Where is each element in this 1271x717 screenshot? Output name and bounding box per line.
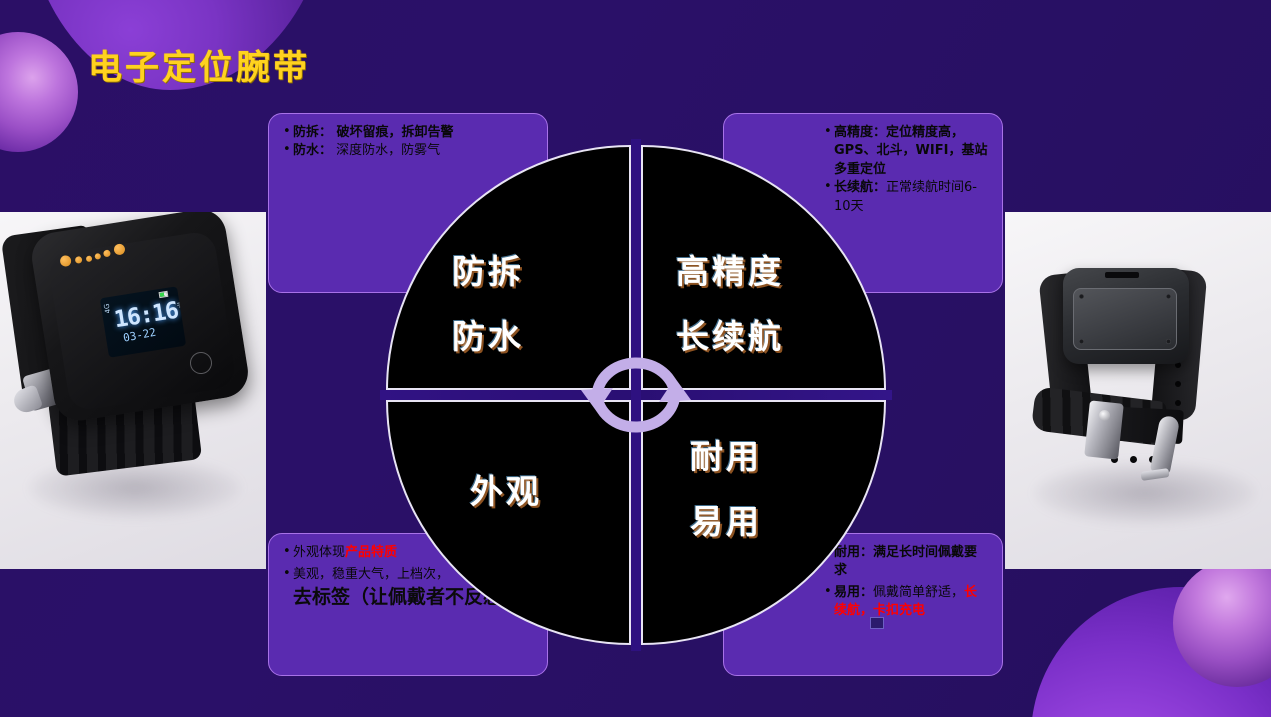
wheel-label-waterproof: 防水 [452, 310, 524, 358]
callout-key: 防水： [293, 143, 332, 158]
callout-value: 外观体现 [293, 545, 345, 560]
wheel-label-easy-to-use: 易用 [690, 495, 762, 543]
wheel-label-durable: 耐用 [690, 430, 762, 478]
decor-circle-top-small [0, 32, 78, 152]
watch-back-plate [1073, 288, 1177, 350]
wheel-label-appearance: 外观 [470, 465, 542, 513]
wheel-divider-vertical [631, 139, 641, 651]
wheel-quadrant-bottom-left [386, 400, 631, 645]
callout-value: 佩戴简单舒适， [873, 585, 964, 600]
watch-display: 4G ıll 16:16 03-22 [100, 286, 186, 357]
callout-line: 防拆： 破坏留痕，拆卸告警 [283, 124, 533, 142]
battery-icon [159, 291, 169, 298]
wheel-quadrant-bottom-right [641, 400, 886, 645]
callout-key: 防拆： [293, 125, 332, 140]
wheel-label-anti-tamper: 防拆 [452, 245, 524, 293]
feature-wheel-diagram: 防拆 防水 高精度 长续航 外观 耐用 易用 [386, 145, 886, 645]
wheel-label-accuracy: 高精度 [676, 245, 784, 293]
watch-back-slot [1105, 272, 1139, 278]
watch-front-photo: 4G ıll 16:16 03-22 [0, 212, 266, 569]
watch-back-photo [1005, 212, 1271, 569]
callout-value: 破坏留痕，拆卸告警 [332, 125, 454, 140]
network-label: 4G [103, 303, 112, 314]
page-title: 电子定位腕带 [88, 40, 310, 89]
mini-grid-icon [870, 617, 884, 629]
callout-key: 高精度： [834, 125, 886, 140]
wheel-label-battery: 长续航 [676, 310, 784, 358]
slide-canvas: 电子定位腕带 4G ıll 16:16 03-22 [0, 0, 1271, 717]
